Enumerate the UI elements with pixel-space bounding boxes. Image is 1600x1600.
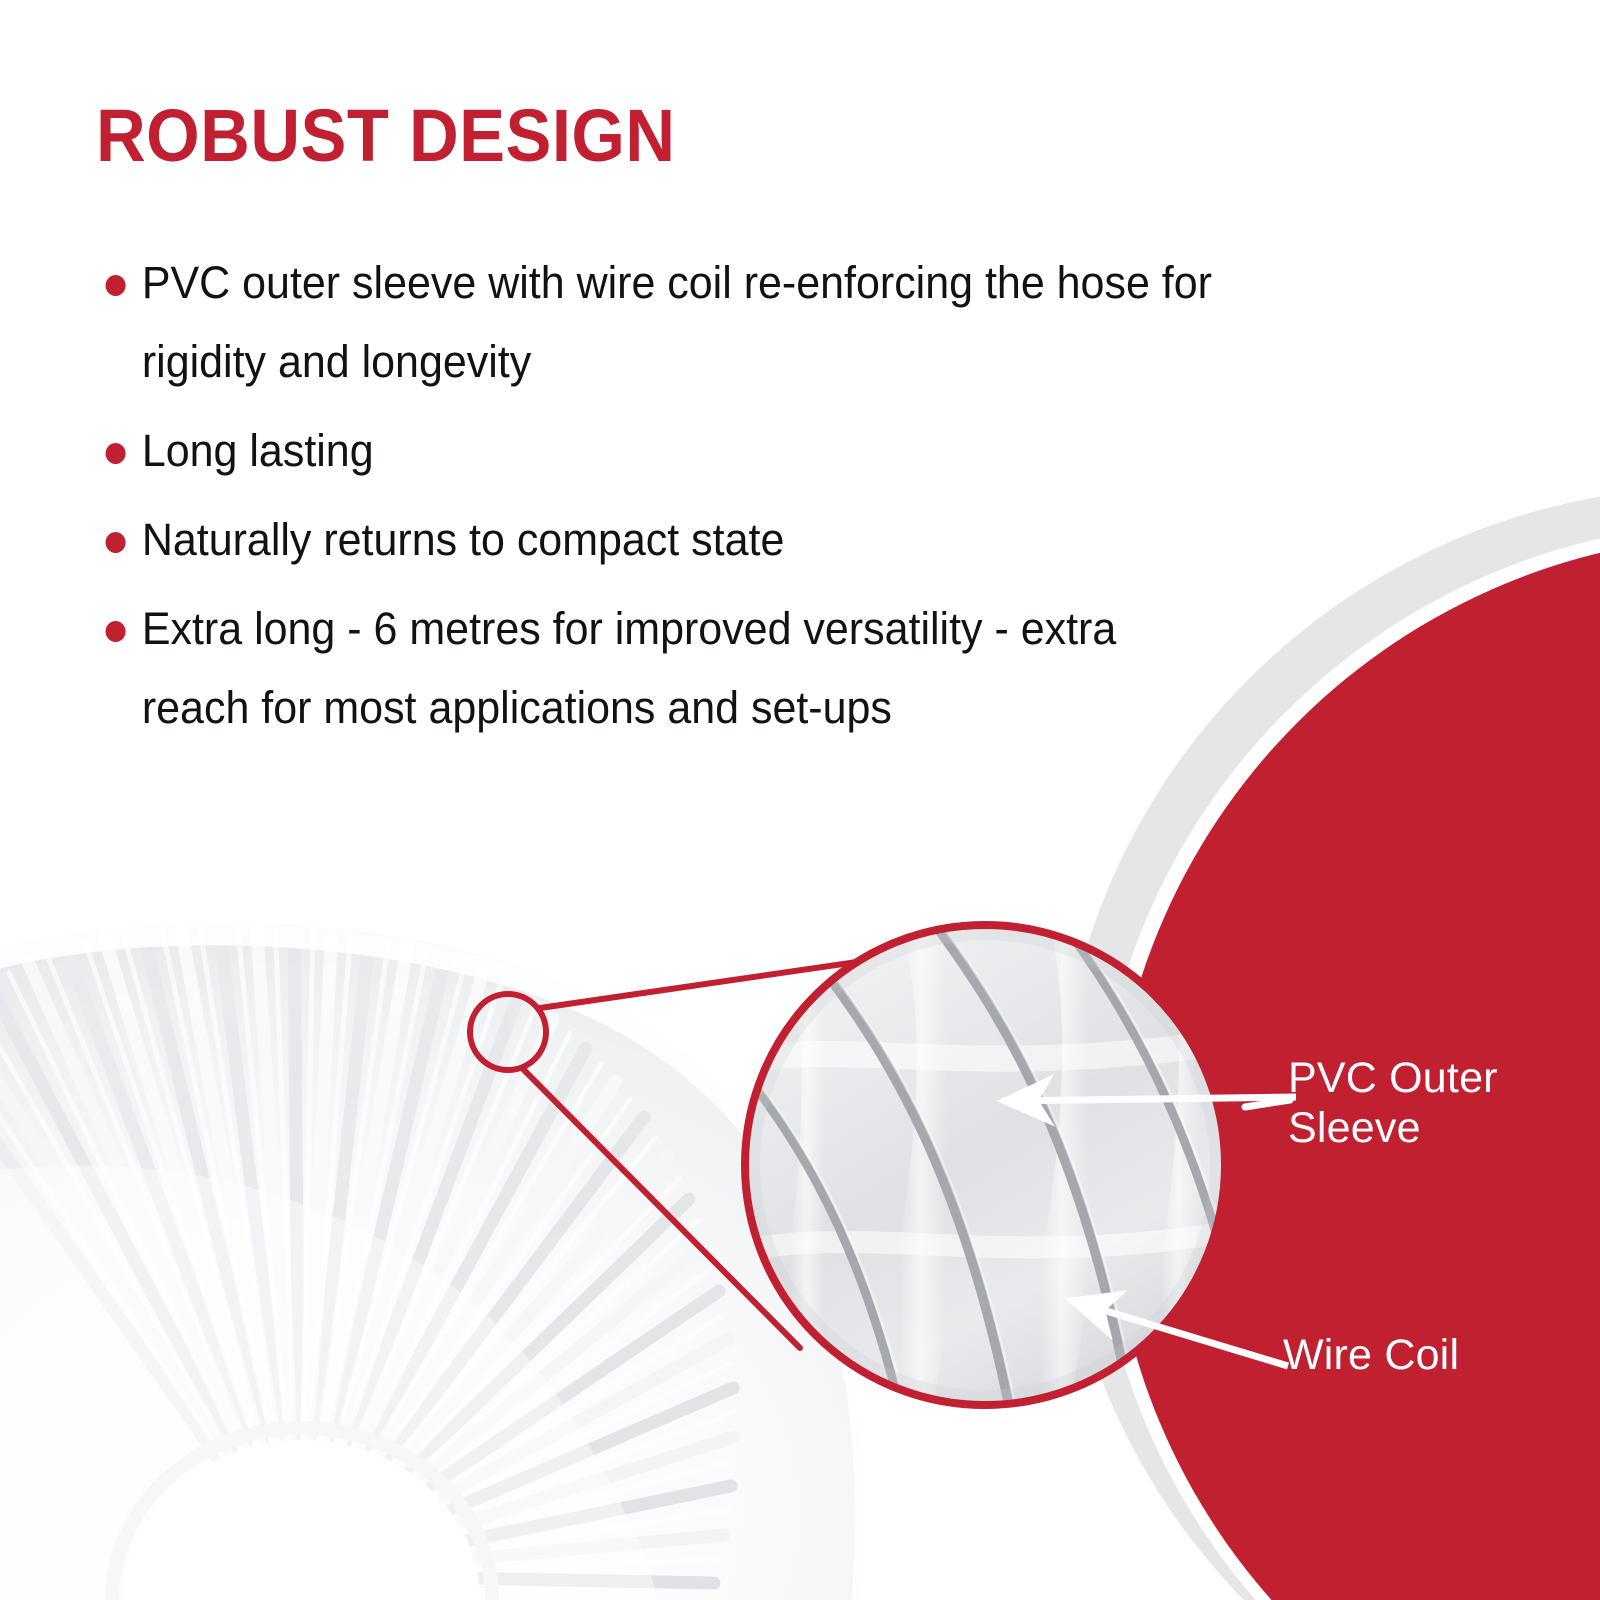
bullet-text: PVC outer sleeve with wire coil re-enfor… (142, 257, 1212, 387)
infographic-page: ROBUST DESIGN PVC outer sleeve with wire… (0, 0, 1600, 1600)
feature-bullet-list: PVC outer sleeve with wire coil re-enfor… (96, 243, 1276, 757)
bullet-text: Naturally returns to compact state (142, 514, 785, 565)
bullet-dot-icon (106, 532, 126, 553)
bullet-text: Extra long - 6 metres for improved versa… (142, 603, 1116, 733)
callout-label-wire-coil: Wire Coil (1283, 1330, 1583, 1380)
callout-label-pvc-outer-sleeve: PVC Outer Sleeve (1288, 1053, 1578, 1153)
page-title: ROBUST DESIGN (96, 96, 676, 176)
list-item: PVC outer sleeve with wire coil re-enfor… (96, 243, 1223, 401)
bullet-dot-icon (106, 443, 126, 464)
bullet-text: Long lasting (142, 425, 374, 476)
list-item: Long lasting (96, 411, 1223, 490)
list-item: Naturally returns to compact state (96, 500, 1223, 579)
list-item: Extra long - 6 metres for improved versa… (96, 589, 1223, 747)
pvc-outer-sleeve-arrow (1002, 1097, 1296, 1101)
bullet-dot-icon (106, 275, 126, 296)
bullet-dot-icon (106, 621, 126, 642)
